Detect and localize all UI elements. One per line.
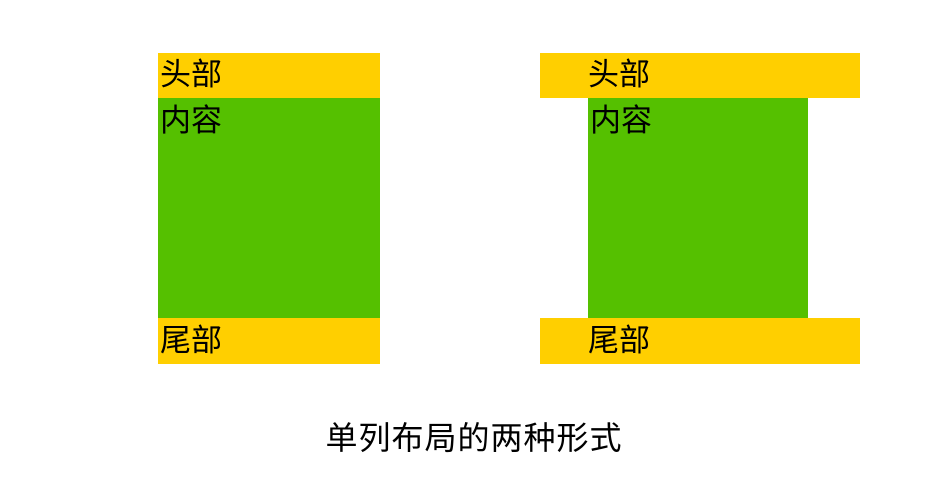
right-header-block: 头部 — [540, 53, 860, 98]
left-content-block: 内容 — [158, 98, 380, 318]
right-header-label: 头部 — [588, 53, 650, 97]
left-header-block: 头部 — [158, 53, 380, 98]
diagram-single-column-full-bleed: 头部 内容 尾部 — [540, 53, 860, 364]
right-content-label: 内容 — [590, 99, 652, 143]
left-footer-label: 尾部 — [160, 319, 222, 363]
figure-caption: 单列布局的两种形式 — [0, 415, 948, 461]
left-header-label: 头部 — [160, 53, 222, 97]
right-footer-label: 尾部 — [588, 319, 650, 363]
right-footer-block: 尾部 — [540, 318, 860, 364]
right-content-block: 内容 — [588, 98, 808, 318]
left-footer-block: 尾部 — [158, 318, 380, 364]
diagram-single-column-equal-width: 头部 内容 尾部 — [158, 53, 380, 364]
figure-canvas: 头部 内容 尾部 头部 内容 尾部 单列布局的两种形式 — [0, 0, 948, 488]
left-content-label: 内容 — [160, 99, 222, 143]
